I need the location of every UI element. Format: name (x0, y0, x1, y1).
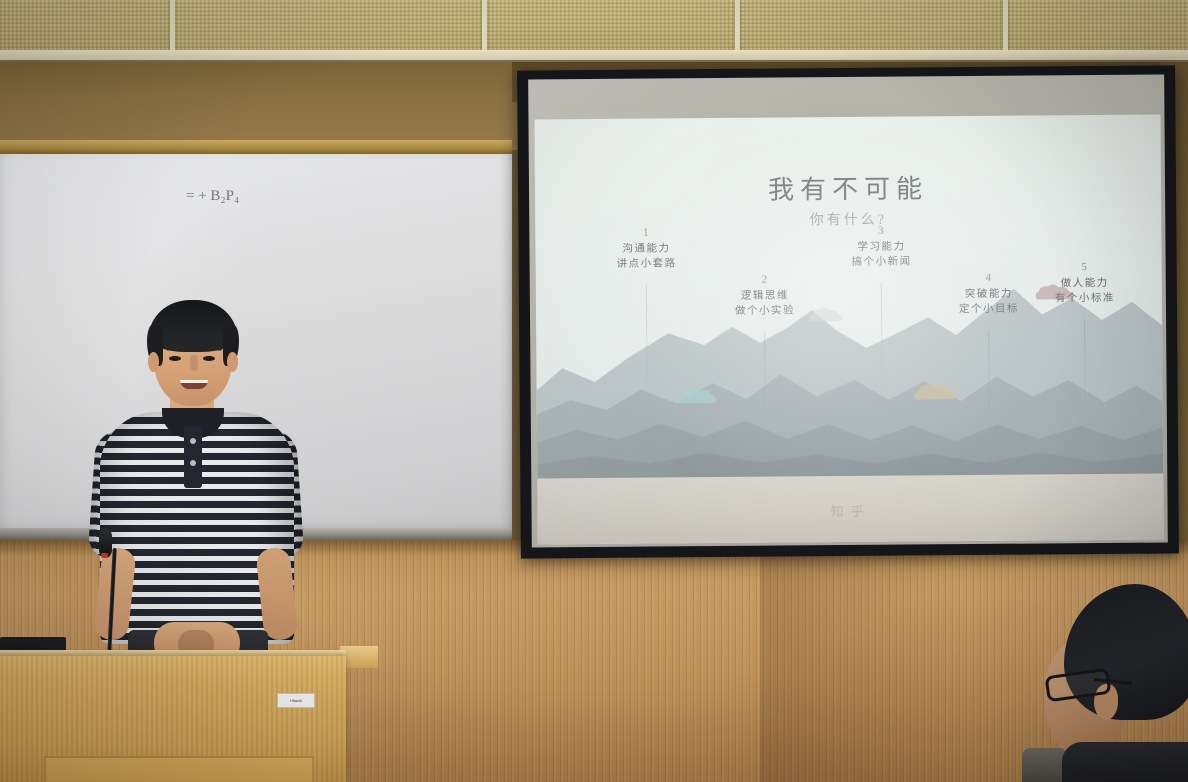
eye-right (203, 356, 215, 361)
audience-member (1038, 584, 1188, 782)
slide-item-2: 2 逻辑思维 做个小实验 (716, 273, 814, 319)
screen-surface: 知乎 我有不可能 你有什么? (528, 75, 1168, 548)
cloud-tan-icon (913, 382, 957, 400)
lecture-hall-photo: = + B₂P₄ 知乎 (0, 0, 1188, 782)
slide-item-5: 5 做人能力 有个小标准 (1036, 261, 1134, 307)
ceiling-rail (735, 0, 740, 56)
item-line-2: 定个小目标 (940, 302, 1038, 318)
item-number: 3 (832, 224, 930, 237)
ceiling-rail (482, 0, 487, 56)
acoustic-ceiling (0, 0, 1188, 56)
wall-shading (760, 540, 960, 782)
nose (190, 355, 198, 371)
item-number: 4 (940, 272, 1038, 285)
lectern-label: Hitachi (277, 693, 315, 708)
cloud-teal-icon (675, 386, 719, 404)
item-number: 1 (597, 226, 695, 239)
torso (1062, 742, 1188, 782)
ear-right (227, 352, 238, 372)
item-line-1: 突破能力 (940, 287, 1038, 303)
ear-left (148, 352, 159, 372)
item-line-2: 讲点小套路 (598, 256, 696, 272)
whiteboard-writing: = + B₂P₄ (186, 188, 239, 205)
item-line-2: 做个小实验 (716, 303, 814, 319)
eye-left (169, 356, 181, 361)
slide-item-4: 4 突破能力 定个小目标 (940, 272, 1038, 318)
hair (1064, 584, 1188, 720)
shirt-button (190, 438, 196, 444)
projection-screen[interactable]: 知乎 我有不可能 你有什么? (517, 65, 1179, 558)
item-number: 5 (1036, 261, 1134, 274)
item-line-1: 逻辑思维 (716, 288, 814, 304)
ceiling-rail (1003, 0, 1008, 56)
item-line-1: 做人能力 (1036, 276, 1134, 292)
shirt-placket (184, 426, 202, 488)
presenter (92, 300, 302, 670)
slide-title: 我有不可能 (535, 167, 1161, 209)
item-line-1: 沟通能力 (597, 241, 695, 257)
microphone-indicator (101, 553, 108, 558)
item-line-1: 学习能力 (832, 239, 930, 255)
item-line-2: 搞个小新闻 (833, 255, 931, 271)
presentation-slide: 知乎 我有不可能 你有什么? (534, 115, 1163, 545)
slide-item-3: 3 学习能力 搞个小新闻 (832, 224, 930, 270)
shirt-button (190, 460, 196, 466)
ceiling-rail (170, 0, 175, 56)
item-number: 2 (716, 273, 814, 286)
lectern-front-panel (44, 756, 314, 782)
item-line-2: 有个小标准 (1036, 291, 1134, 307)
slide-item-1: 1 沟通能力 讲点小套路 (597, 226, 695, 272)
